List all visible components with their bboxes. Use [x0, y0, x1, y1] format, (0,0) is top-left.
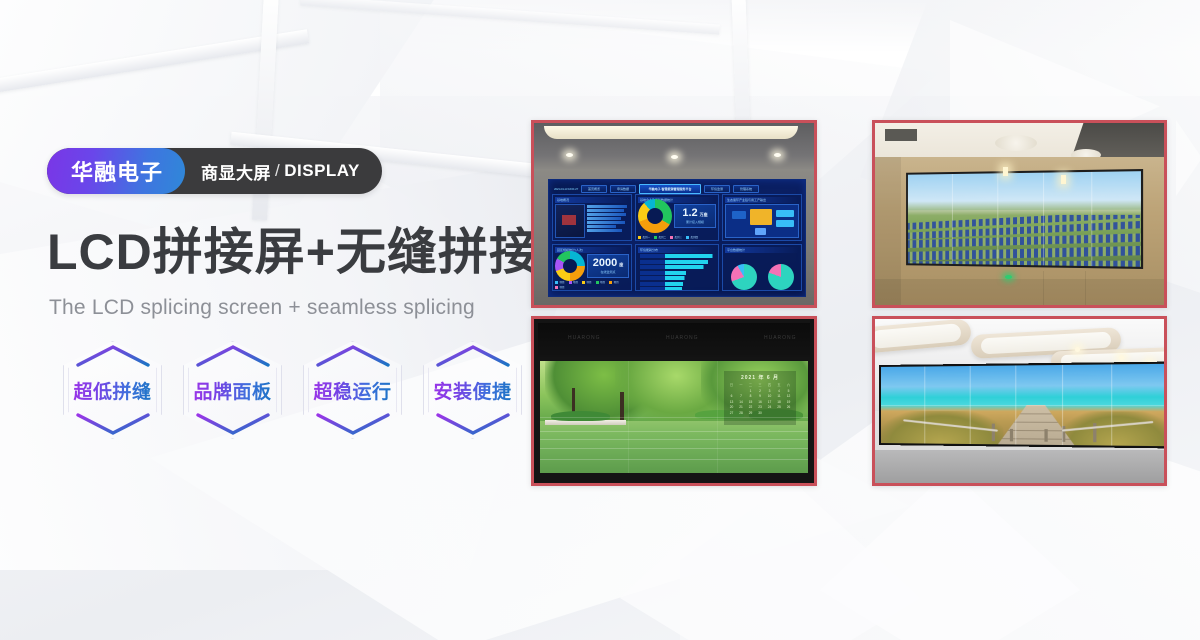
- dashboard-tab[interactable]: 申请数据: [610, 185, 636, 193]
- fence-post: [992, 424, 995, 441]
- dashboard-title: 华融电子·智慧能源管理服务平台: [639, 184, 701, 194]
- headline-subtitle: The LCD splicing screen + seamless splic…: [49, 296, 475, 320]
- dashboard-panel: 基地企业及能耗数据统计 1.2万座 累计接入规模 类别一: [635, 194, 719, 241]
- dashboard-header: 2021-04-13 16:01:27 首页概览 申请数据 华融电子·智慧能源管…: [552, 183, 802, 194]
- dashboard-tab[interactable]: 环境监测: [704, 185, 730, 193]
- dashboard-panel: 平台数据统计: [722, 244, 802, 291]
- video-wall: [879, 362, 1164, 449]
- chevron-up-icon: [196, 345, 270, 367]
- category-pill: 商显大屏 / DISPLAY: [171, 148, 382, 194]
- dashboard-panel: 园区规模统计(人次) 2000座 在线监测点 项目: [552, 244, 632, 291]
- bar-chart: [638, 253, 716, 291]
- brand-badge: 华融电子 商显大屏 / DISPLAY: [47, 148, 382, 194]
- dashboard-panel-grid: 基地概况: [552, 194, 802, 291]
- chevron-down-icon: [436, 413, 510, 435]
- feature-label: 超低拼缝: [73, 377, 151, 404]
- video-wall: [906, 169, 1143, 269]
- feature-label: 品牌面板: [193, 377, 271, 404]
- downlight-icon: [566, 153, 573, 157]
- lake-scene-image: 2021 年 6 月 日一二三 四五六 12345 6789101112 131…: [540, 361, 808, 473]
- metric-value: 2000: [593, 257, 617, 269]
- room-scene: [875, 319, 1164, 483]
- dashboard-panel: 环境能耗分布: [635, 244, 719, 291]
- photo-willow-lake-video-wall[interactable]: HUARONG HUARONG HUARONG: [531, 316, 817, 486]
- dashboard-panel: 基地概况: [552, 194, 632, 241]
- panel-thumbnail: [555, 204, 585, 238]
- feature-badge-list: 超低拼缝 品牌面板: [55, 337, 530, 443]
- metric-card: 2000座 在线监测点: [587, 254, 629, 278]
- dashboard-panel: 生态循环产业链与用工产输出: [722, 194, 802, 241]
- category-label-cn: 商显大屏: [201, 159, 271, 184]
- cove-light: [544, 126, 798, 139]
- downlight-icon: [671, 155, 678, 159]
- photo-beach-boardwalk-video-wall[interactable]: [872, 316, 1167, 486]
- metric-card: 1.2万座 累计接入规模: [674, 204, 716, 228]
- dashboard-timestamp: 2021-04-13 16:01:27: [552, 187, 578, 191]
- headline-title: LCD拼接屏+无缝拼接: [47, 226, 540, 279]
- ceiling-fixture: [995, 135, 1037, 151]
- metric-value: 1.2: [682, 207, 697, 219]
- donut-chart: [555, 251, 585, 281]
- calendar-grid: 日一二三 四五六 12345 6789101112 13141516171819…: [727, 383, 793, 416]
- spotlight-icon: [1119, 355, 1124, 360]
- chevron-down-icon: [196, 413, 270, 435]
- feature-badge-2: 品牌面板: [175, 337, 290, 443]
- ceiling: [534, 123, 814, 169]
- upper-dark-panels: HUARONG HUARONG HUARONG: [538, 323, 810, 357]
- fence-post: [1045, 429, 1048, 442]
- product-photo-grid: 2021-04-13 16:01:27 首页概览 申请数据 华融电子·智慧能源管…: [531, 120, 1167, 486]
- spotlight-icon: [1075, 347, 1080, 352]
- donut-chart: [638, 199, 672, 233]
- panel-text-lines: [587, 204, 629, 238]
- photo-dashboard-video-wall[interactable]: 2021-04-13 16:01:27 首页概览 申请数据 华融电子·智慧能源管…: [531, 120, 817, 308]
- flow-diagram: [725, 204, 799, 238]
- pie-chart-group: [725, 253, 799, 291]
- chart-legend: 项目 项目 项目 项目 项目 项目: [555, 280, 629, 289]
- solar-panel-rows: [908, 215, 1141, 267]
- feature-label: 安装便捷: [433, 377, 511, 404]
- category-label-en: DISPLAY: [284, 161, 360, 181]
- floor: [875, 450, 1164, 483]
- downlight-icon: [774, 153, 781, 157]
- feature-badge-4: 安装便捷: [415, 337, 530, 443]
- room-scene: [875, 123, 1164, 305]
- chevron-up-icon: [316, 345, 390, 367]
- fence-post: [1010, 429, 1013, 442]
- chevron-up-icon: [76, 345, 150, 367]
- bg-facet: [620, 460, 920, 640]
- dashboard-tab[interactable]: 首页概览: [581, 185, 607, 193]
- chevron-up-icon: [436, 345, 510, 367]
- pie-chart: [731, 264, 757, 290]
- banner-text-column: 华融电子 商显大屏 / DISPLAY LCD拼接屏+无缝拼接 The LCD …: [47, 0, 527, 640]
- metric-unit: 万座: [700, 212, 708, 217]
- brand-badge-row: 华融电子 商显大屏 / DISPLAY: [47, 148, 382, 194]
- category-separator: /: [275, 161, 280, 181]
- wall-light: [1061, 175, 1066, 184]
- feature-badge-3: 超稳运行: [295, 337, 410, 443]
- panel-title: 基地概况: [555, 197, 629, 203]
- chevron-down-icon: [76, 413, 150, 435]
- photo-solar-farm-video-wall[interactable]: [872, 120, 1167, 308]
- wall-light: [1003, 167, 1008, 176]
- calendar-title: 2021 年 6 月: [727, 374, 793, 381]
- horizon-line: [908, 209, 1141, 215]
- pie-chart: [768, 264, 794, 290]
- ceiling-vent: [885, 129, 917, 141]
- solar-farm-image: [908, 171, 1141, 267]
- product-banner: 华融电子 商显大屏 / DISPLAY LCD拼接屏+无缝拼接 The LCD …: [0, 0, 1200, 640]
- chart-legend: 类别一 类别二 类别三 类别四: [638, 235, 716, 239]
- dashboard-screen-content: 2021-04-13 16:01:27 首页概览 申请数据 华融电子·智慧能源管…: [548, 179, 806, 297]
- brand-name-pill: 华融电子: [47, 148, 185, 194]
- lake-water: [540, 421, 808, 473]
- room-scene: 2021-04-13 16:01:27 首页概览 申请数据 华融电子·智慧能源管…: [534, 123, 814, 305]
- metric-caption: 在线监测点: [600, 270, 615, 274]
- video-wall-bezel: HUARONG HUARONG HUARONG: [534, 319, 814, 483]
- feature-badge-1: 超低拼缝: [55, 337, 170, 443]
- chevron-down-icon: [316, 413, 390, 435]
- metric-caption: 累计接入规模: [686, 220, 704, 224]
- bg-facet: [820, 470, 1080, 640]
- metric-unit: 座: [619, 262, 623, 267]
- feature-label: 超稳运行: [313, 377, 391, 404]
- exit-sign-icon: [1005, 275, 1012, 279]
- bg-arrow-shape: [1176, 120, 1200, 196]
- dashboard-tab[interactable]: 管理系统: [733, 185, 759, 193]
- panel-title: 生态循环产业链与用工产输出: [725, 197, 799, 203]
